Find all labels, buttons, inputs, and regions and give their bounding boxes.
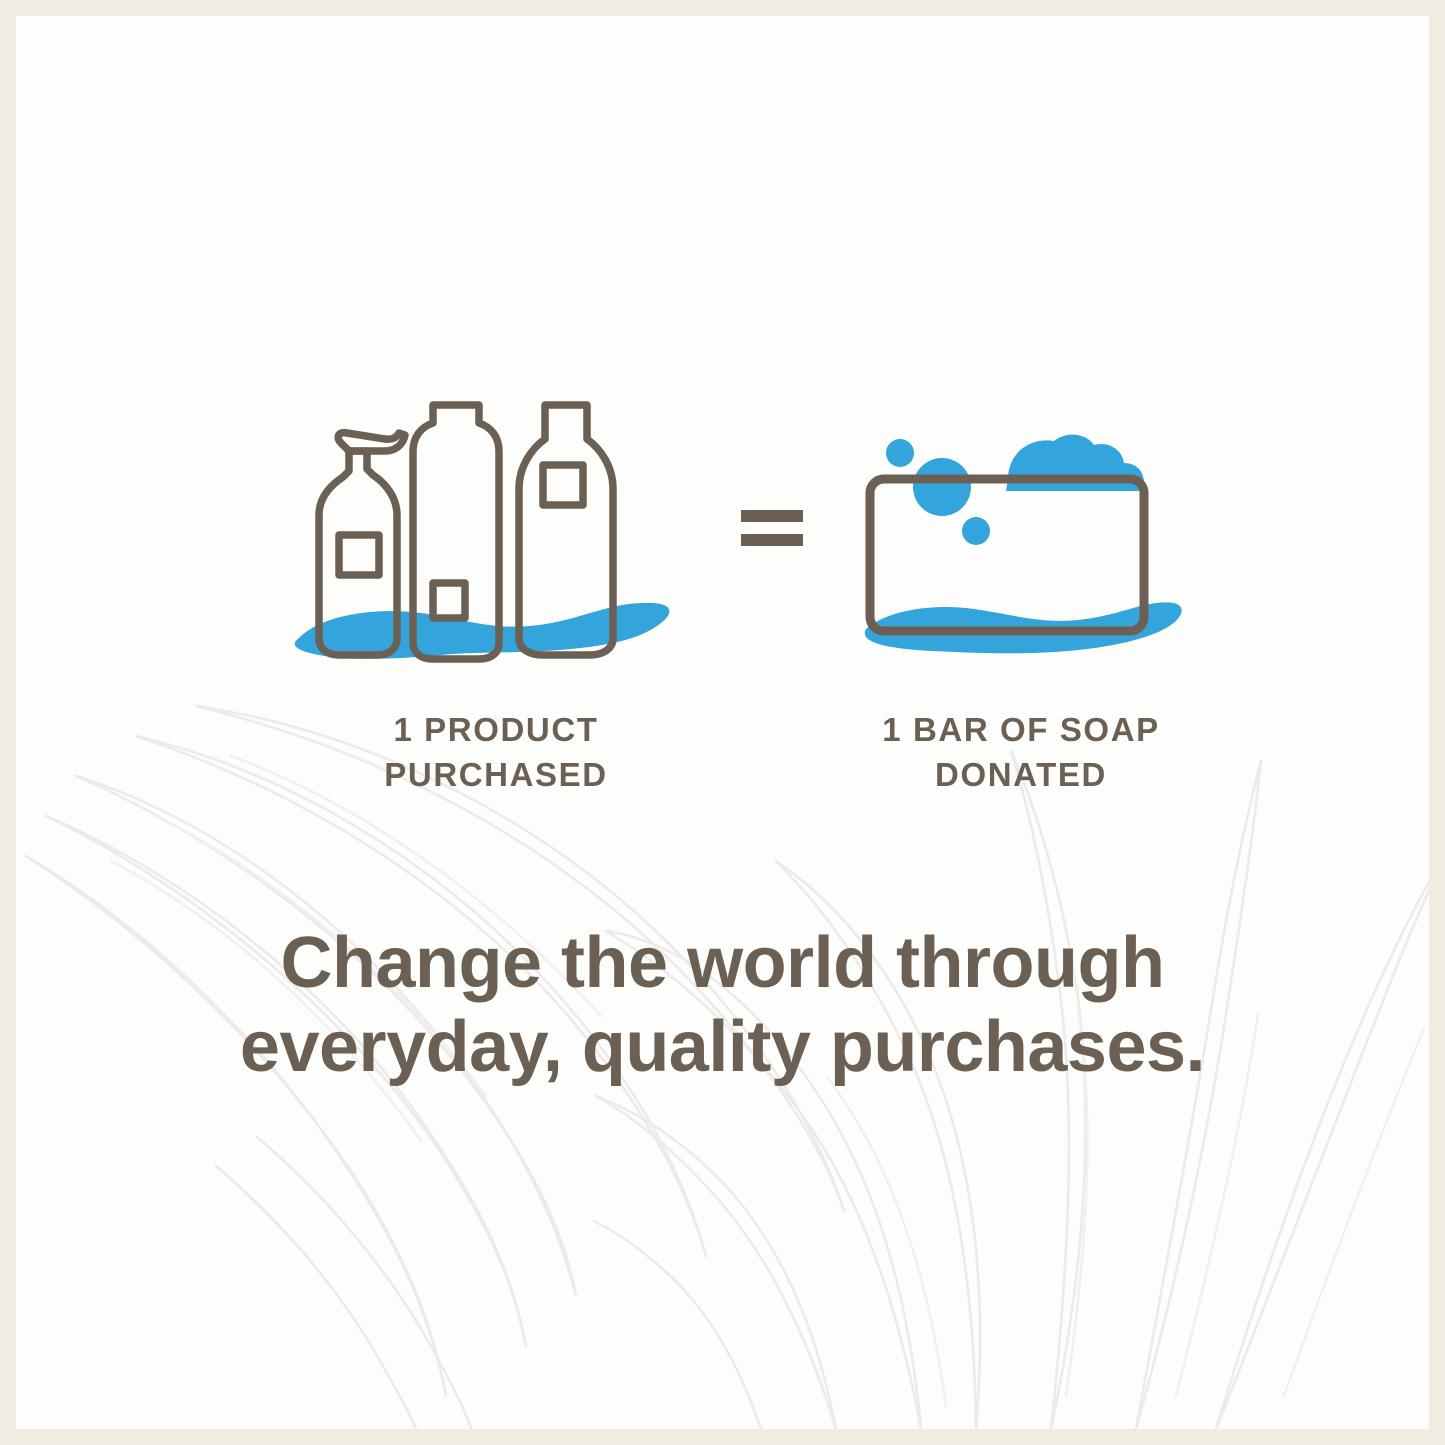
infographic-row: 1 PRODUCT PURCHASED 1 BAR OF SOAP DONATE… — [16, 388, 1429, 808]
three-bottles-icon — [281, 393, 681, 683]
bubble-large — [913, 458, 971, 516]
pump-bottle-label — [339, 535, 379, 575]
straight-bottle-label — [433, 583, 465, 618]
headline-text: Change the world through everyday, quali… — [16, 921, 1429, 1089]
round-bottle-label — [543, 465, 583, 505]
caption-product-purchased: 1 PRODUCT PURCHASED — [231, 708, 761, 797]
poster-inner-area: 1 PRODUCT PURCHASED 1 BAR OF SOAP DONATE… — [16, 16, 1429, 1429]
soap-bar-icon — [856, 413, 1186, 703]
pump-head — [338, 433, 405, 451]
equals-sign-icon — [737, 493, 807, 563]
bubble-small-top — [886, 439, 914, 467]
soap-bar-outline — [870, 479, 1144, 631]
bubble-small-inner — [962, 517, 990, 545]
caption-soap-donated: 1 BAR OF SOAP DONATED — [756, 708, 1286, 797]
poster-canvas: 1 PRODUCT PURCHASED 1 BAR OF SOAP DONATE… — [0, 0, 1445, 1445]
